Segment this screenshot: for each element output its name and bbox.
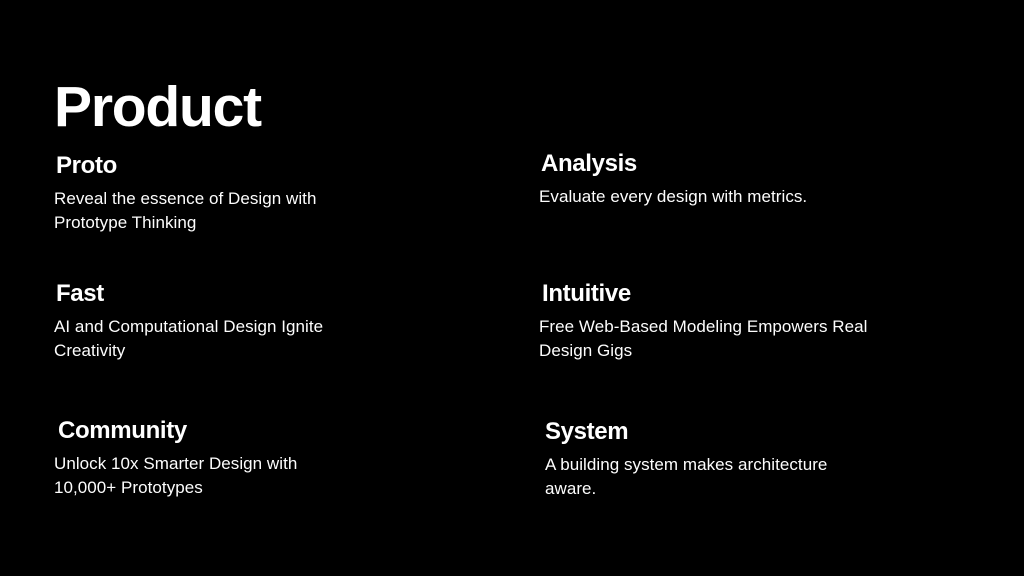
feature-item-intuitive: Intuitive Free Web-Based Modeling Empowe… [539, 280, 924, 364]
feature-title: System [545, 418, 880, 446]
feature-item-system: System A building system makes architect… [539, 418, 880, 502]
presentation-slide: Product Proto Reveal the essence of Desi… [0, 0, 1024, 576]
feature-description: Evaluate every design with metrics. [539, 178, 919, 209]
feature-title: Community [58, 417, 354, 445]
feature-item-proto: Proto Reveal the essence of Design with … [54, 152, 374, 236]
feature-item-fast: Fast AI and Computational Design Ignite … [54, 280, 374, 364]
feature-title: Fast [56, 280, 374, 308]
feature-description: AI and Computational Design Ignite Creat… [54, 308, 374, 363]
feature-item-analysis: Analysis Evaluate every design with metr… [539, 150, 919, 209]
feature-grid: Proto Reveal the essence of Design with … [0, 0, 1024, 576]
feature-title: Analysis [541, 150, 919, 178]
feature-title: Proto [56, 152, 374, 180]
feature-description: Free Web-Based Modeling Empowers Real De… [539, 308, 924, 363]
feature-description: Reveal the essence of Design with Protot… [54, 180, 374, 235]
feature-item-community: Community Unlock 10x Smarter Design with… [54, 417, 354, 501]
feature-description: Unlock 10x Smarter Design with 10,000+ P… [54, 445, 354, 500]
feature-title: Intuitive [542, 280, 924, 308]
feature-description: A building system makes architecture awa… [545, 446, 880, 501]
